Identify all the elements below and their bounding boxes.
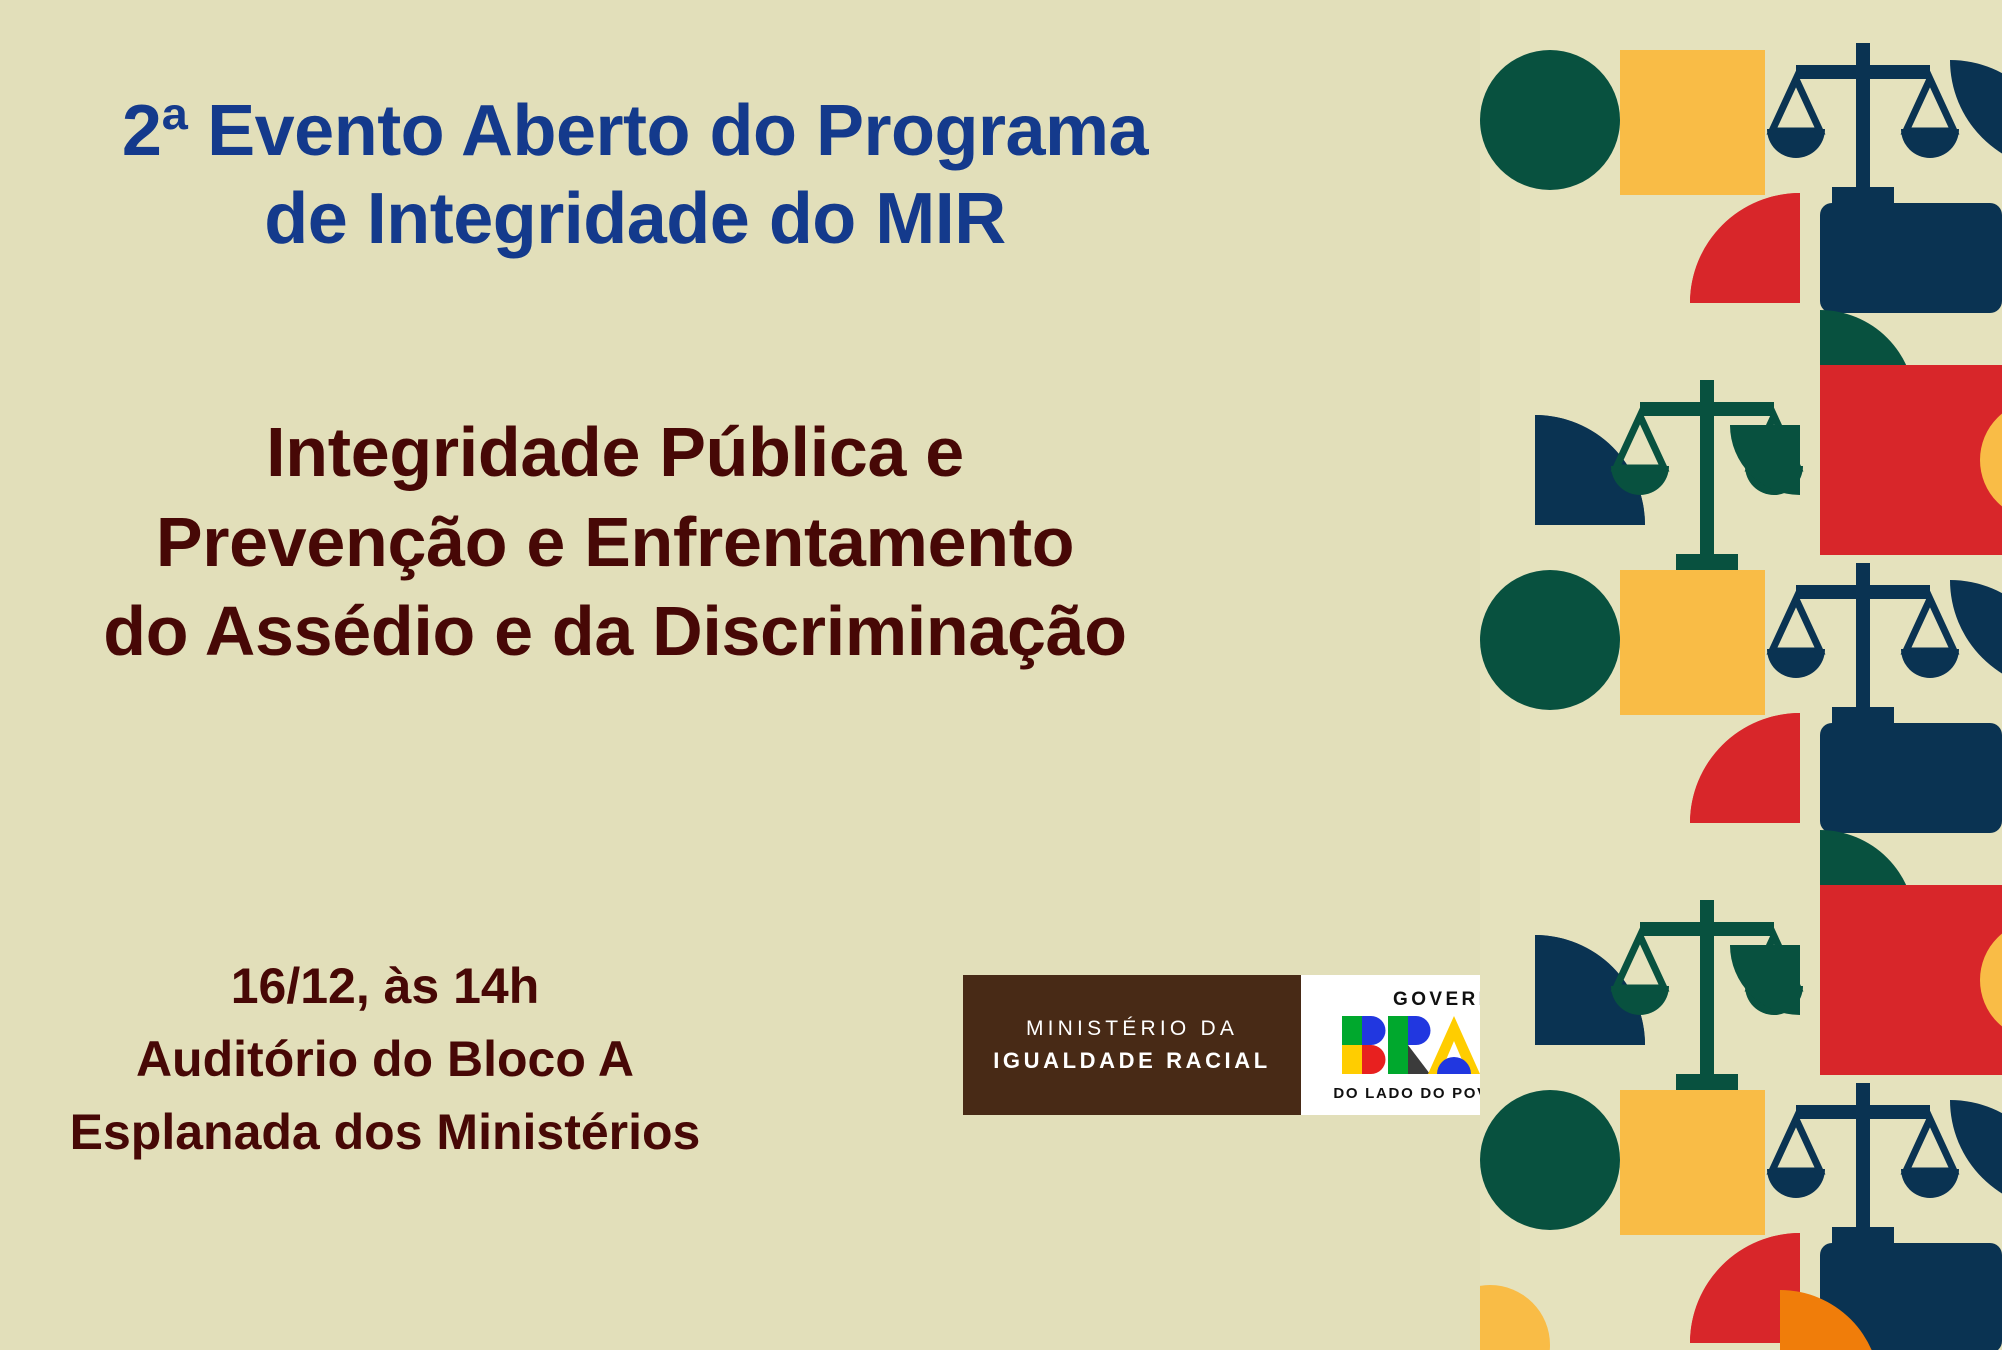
- ministry-logo-line-1: MINISTÉRIO DA: [1026, 1013, 1238, 1045]
- event-subtitle-line-2: Prevenção e Enfrentamento: [0, 498, 1230, 588]
- event-details: 16/12, às 14h Auditório do Bloco A Espla…: [0, 950, 770, 1169]
- ministry-logo: MINISTÉRIO DA IGUALDADE RACIAL: [963, 975, 1301, 1115]
- event-poster: 2ª Evento Aberto do Programa de Integrid…: [0, 0, 2002, 1350]
- poster-content-column: 2ª Evento Aberto do Programa de Integrid…: [0, 0, 1480, 1350]
- event-datetime: 16/12, às 14h: [0, 950, 770, 1023]
- event-venue: Auditório do Bloco A: [0, 1023, 770, 1096]
- event-subtitle-line-3: do Assédio e da Discriminação: [0, 587, 1230, 677]
- ministry-logo-line-2: IGUALDADE RACIAL: [993, 1044, 1271, 1077]
- event-title-line-2: de Integridade do MIR: [0, 176, 1270, 264]
- event-title-line-1: 2ª Evento Aberto do Programa: [0, 88, 1270, 176]
- event-address: Esplanada dos Ministérios: [0, 1096, 770, 1169]
- event-subtitle-line-1: Integridade Pública e: [0, 408, 1230, 498]
- event-subtitle: Integridade Pública e Prevenção e Enfren…: [0, 408, 1230, 677]
- page-title: 2ª Evento Aberto do Programa de Integrid…: [0, 88, 1270, 264]
- decorative-geometric-band: [1480, 0, 2002, 1350]
